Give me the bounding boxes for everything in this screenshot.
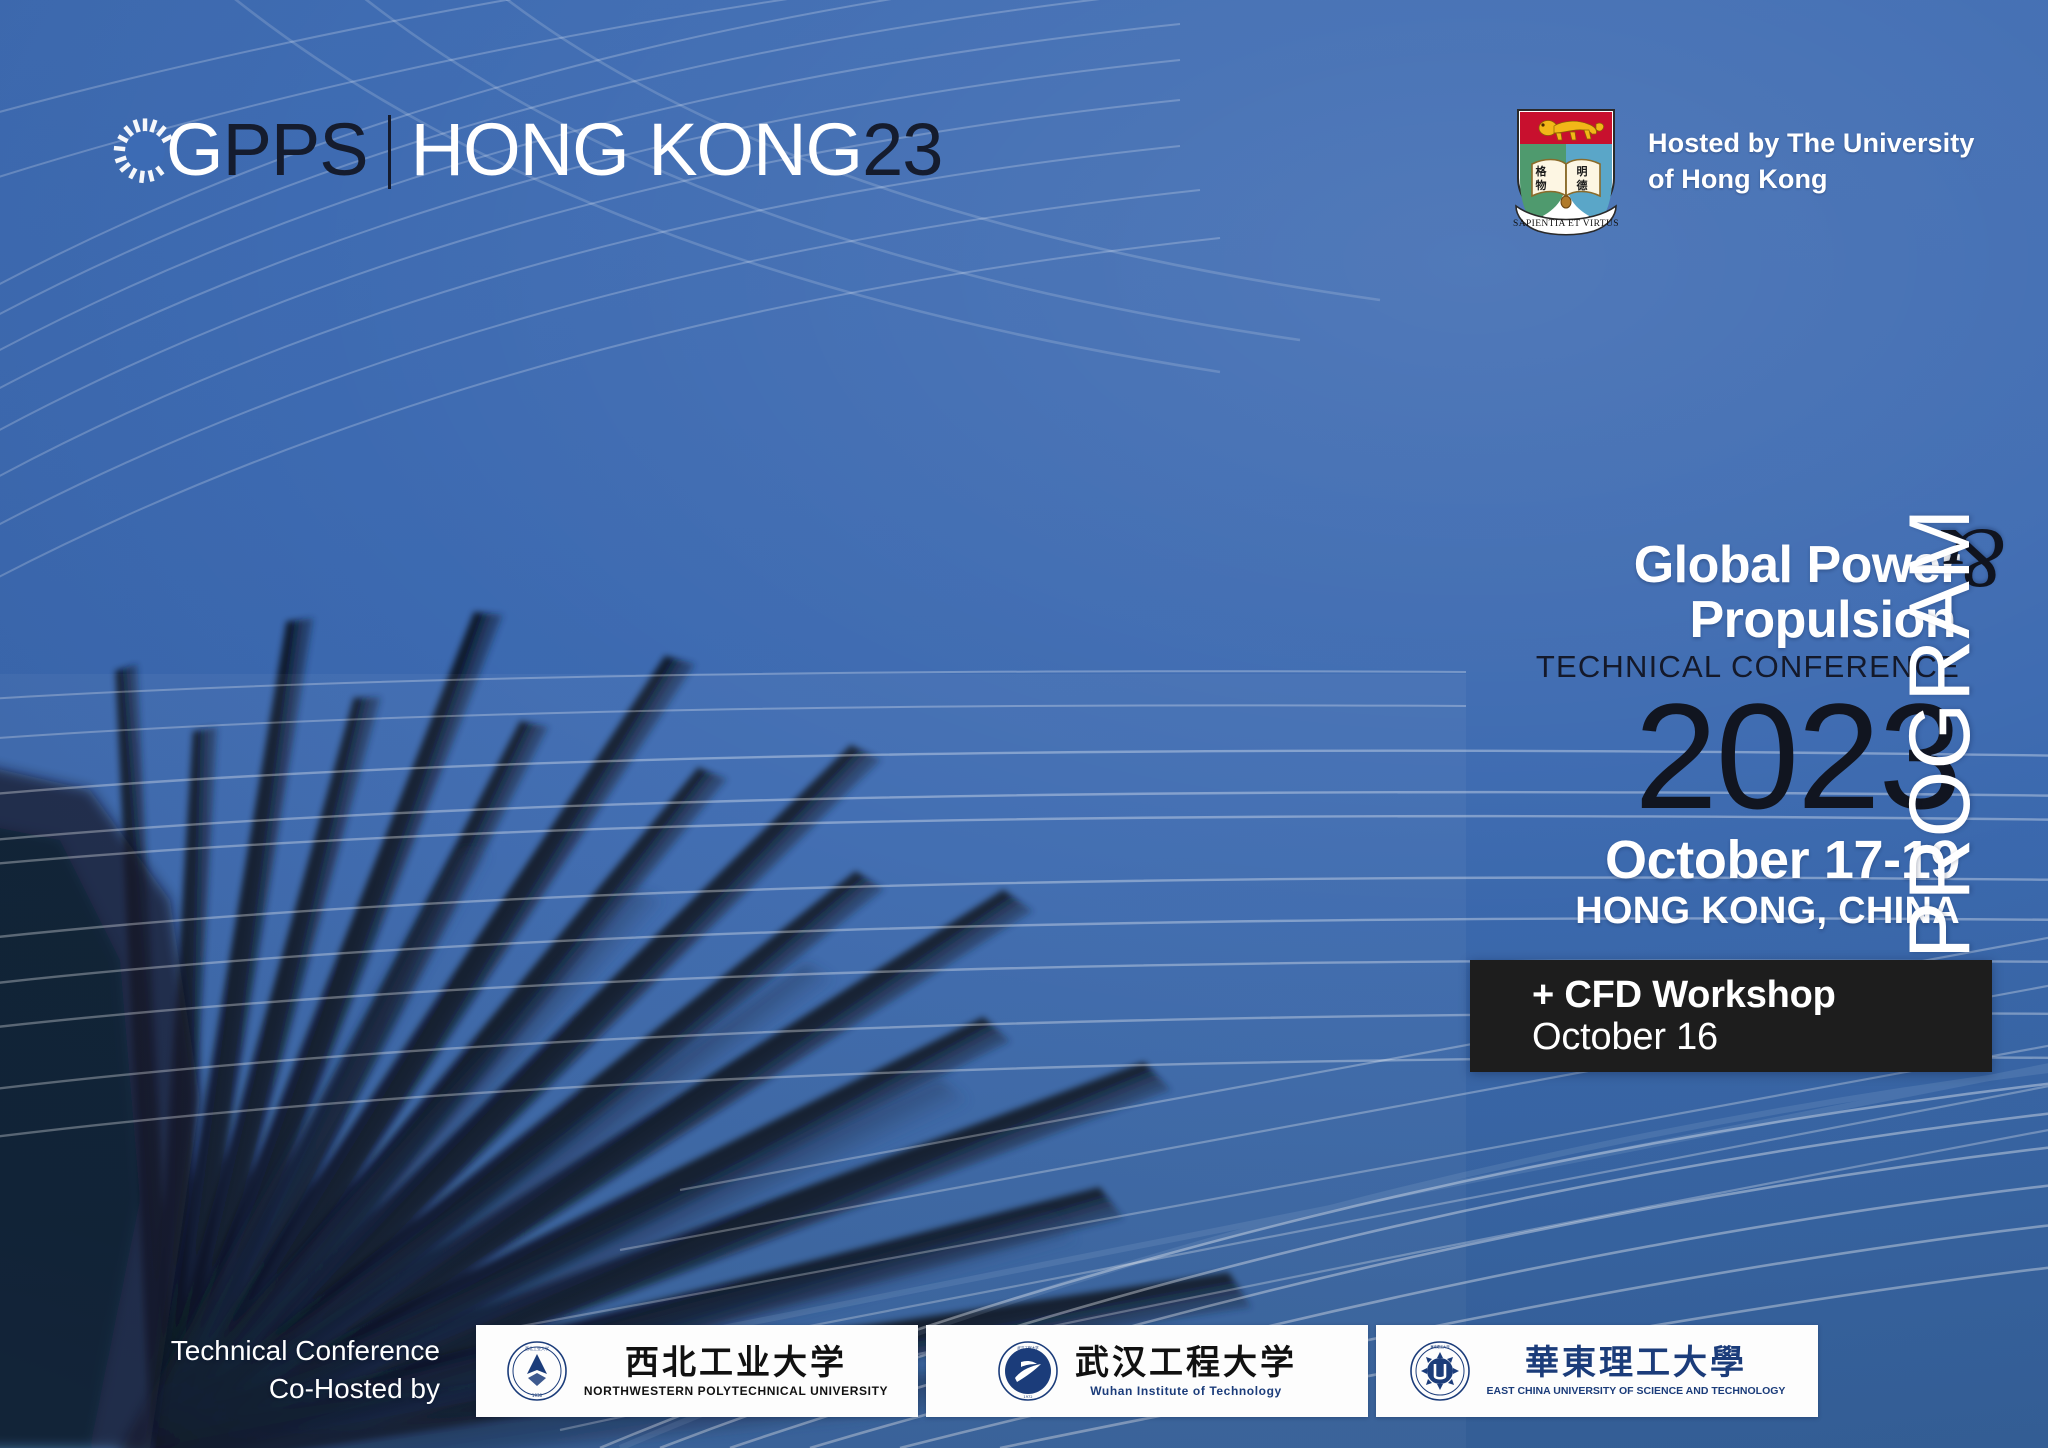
sponsor-row: 西北工业大学 1938 西北工业大学 NORTHWESTERN POLYTECH… bbox=[476, 1325, 1818, 1417]
svg-text:德: 德 bbox=[1576, 178, 1588, 192]
svg-text:物: 物 bbox=[1536, 178, 1547, 192]
sponsor-logo-wit: 武汉工程大学 1972 武汉工程大学 Wuhan Institute of Te… bbox=[926, 1325, 1368, 1417]
title-dates: October 17-19 bbox=[1500, 830, 1960, 890]
wit-seal-icon: 武汉工程大学 1972 bbox=[997, 1340, 1059, 1402]
program-cover: GPPSHONG KONG23 bbox=[0, 0, 2048, 1448]
svg-text:格: 格 bbox=[1536, 164, 1548, 178]
svg-text:西北工业大学: 西北工业大学 bbox=[525, 1345, 549, 1351]
hosted-by-text: Hosted by The University of Hong Kong bbox=[1648, 126, 1974, 197]
svg-text:華東理工大學: 華東理工大學 bbox=[1430, 1344, 1450, 1349]
gpps-wordmark: GPPSHONG KONG23 bbox=[166, 113, 942, 189]
svg-text:明: 明 bbox=[1577, 165, 1588, 178]
sponsor-logo-npu: 西北工业大学 1938 西北工业大学 NORTHWESTERN POLYTECH… bbox=[476, 1325, 918, 1417]
program-vertical-label-text: PROGRAM bbox=[1897, 551, 1983, 959]
turbine-sunburst-icon bbox=[108, 114, 182, 188]
svg-text:1972: 1972 bbox=[1023, 1395, 1032, 1399]
title-line-1: Global Power & bbox=[1500, 538, 1960, 592]
program-vertical-label: PROGRAM bbox=[1892, 552, 1988, 960]
sponsor-name-cn: 西北工业大学 bbox=[625, 1344, 847, 1382]
svg-text:武汉工程大学: 武汉工程大学 bbox=[1017, 1345, 1039, 1350]
npu-seal-icon: 西北工业大学 1938 bbox=[506, 1340, 568, 1402]
logo-city: HONG KONG bbox=[411, 108, 862, 191]
host-block: 格 物 明 德 SAPIENTIA ET VIRTUS Hosted by Th… bbox=[1512, 104, 1974, 236]
sponsor-logo-ecust: 華東理工大學 華東理工大學 EAST CHINA UNIVERSITY OF S… bbox=[1376, 1325, 1818, 1417]
title-line-2: Propulsion bbox=[1500, 592, 1960, 648]
sponsor-name-cn: 華東理工大學 bbox=[1525, 1344, 1747, 1382]
sponsor-name-en: Wuhan Institute of Technology bbox=[1090, 1383, 1282, 1399]
hku-crest-icon: 格 物 明 德 SAPIENTIA ET VIRTUS bbox=[1512, 104, 1620, 236]
gpps-logo: GPPSHONG KONG23 bbox=[108, 112, 942, 190]
svg-text:1938: 1938 bbox=[532, 1393, 543, 1398]
cfd-workshop-title: + CFD Workshop bbox=[1532, 974, 1992, 1016]
sponsor-name-en: NORTHWESTERN POLYTECHNICAL UNIVERSITY bbox=[584, 1383, 888, 1399]
gpps-letters-pps: PPS bbox=[223, 108, 368, 191]
sponsor-name-cn: 武汉工程大学 bbox=[1075, 1344, 1297, 1382]
cfd-workshop-date: October 16 bbox=[1532, 1016, 1992, 1058]
title-block: Global Power & Propulsion TECHNICAL CONF… bbox=[1500, 538, 1960, 932]
title-location: HONG KONG, CHINA bbox=[1500, 890, 1960, 932]
crest-motto: SAPIENTIA ET VIRTUS bbox=[1513, 219, 1619, 229]
cfd-workshop-badge: + CFD Workshop October 16 bbox=[1470, 960, 1992, 1072]
sponsor-name-en: EAST CHINA UNIVERSITY OF SCIENCE AND TEC… bbox=[1487, 1383, 1786, 1399]
logo-year-short: 23 bbox=[862, 108, 942, 191]
title-year: 2023 bbox=[1500, 688, 1960, 824]
cohost-label: Technical Conference Co-Hosted by bbox=[100, 1332, 440, 1408]
ecust-seal-icon: 華東理工大學 bbox=[1409, 1340, 1471, 1402]
logo-divider bbox=[388, 115, 391, 189]
